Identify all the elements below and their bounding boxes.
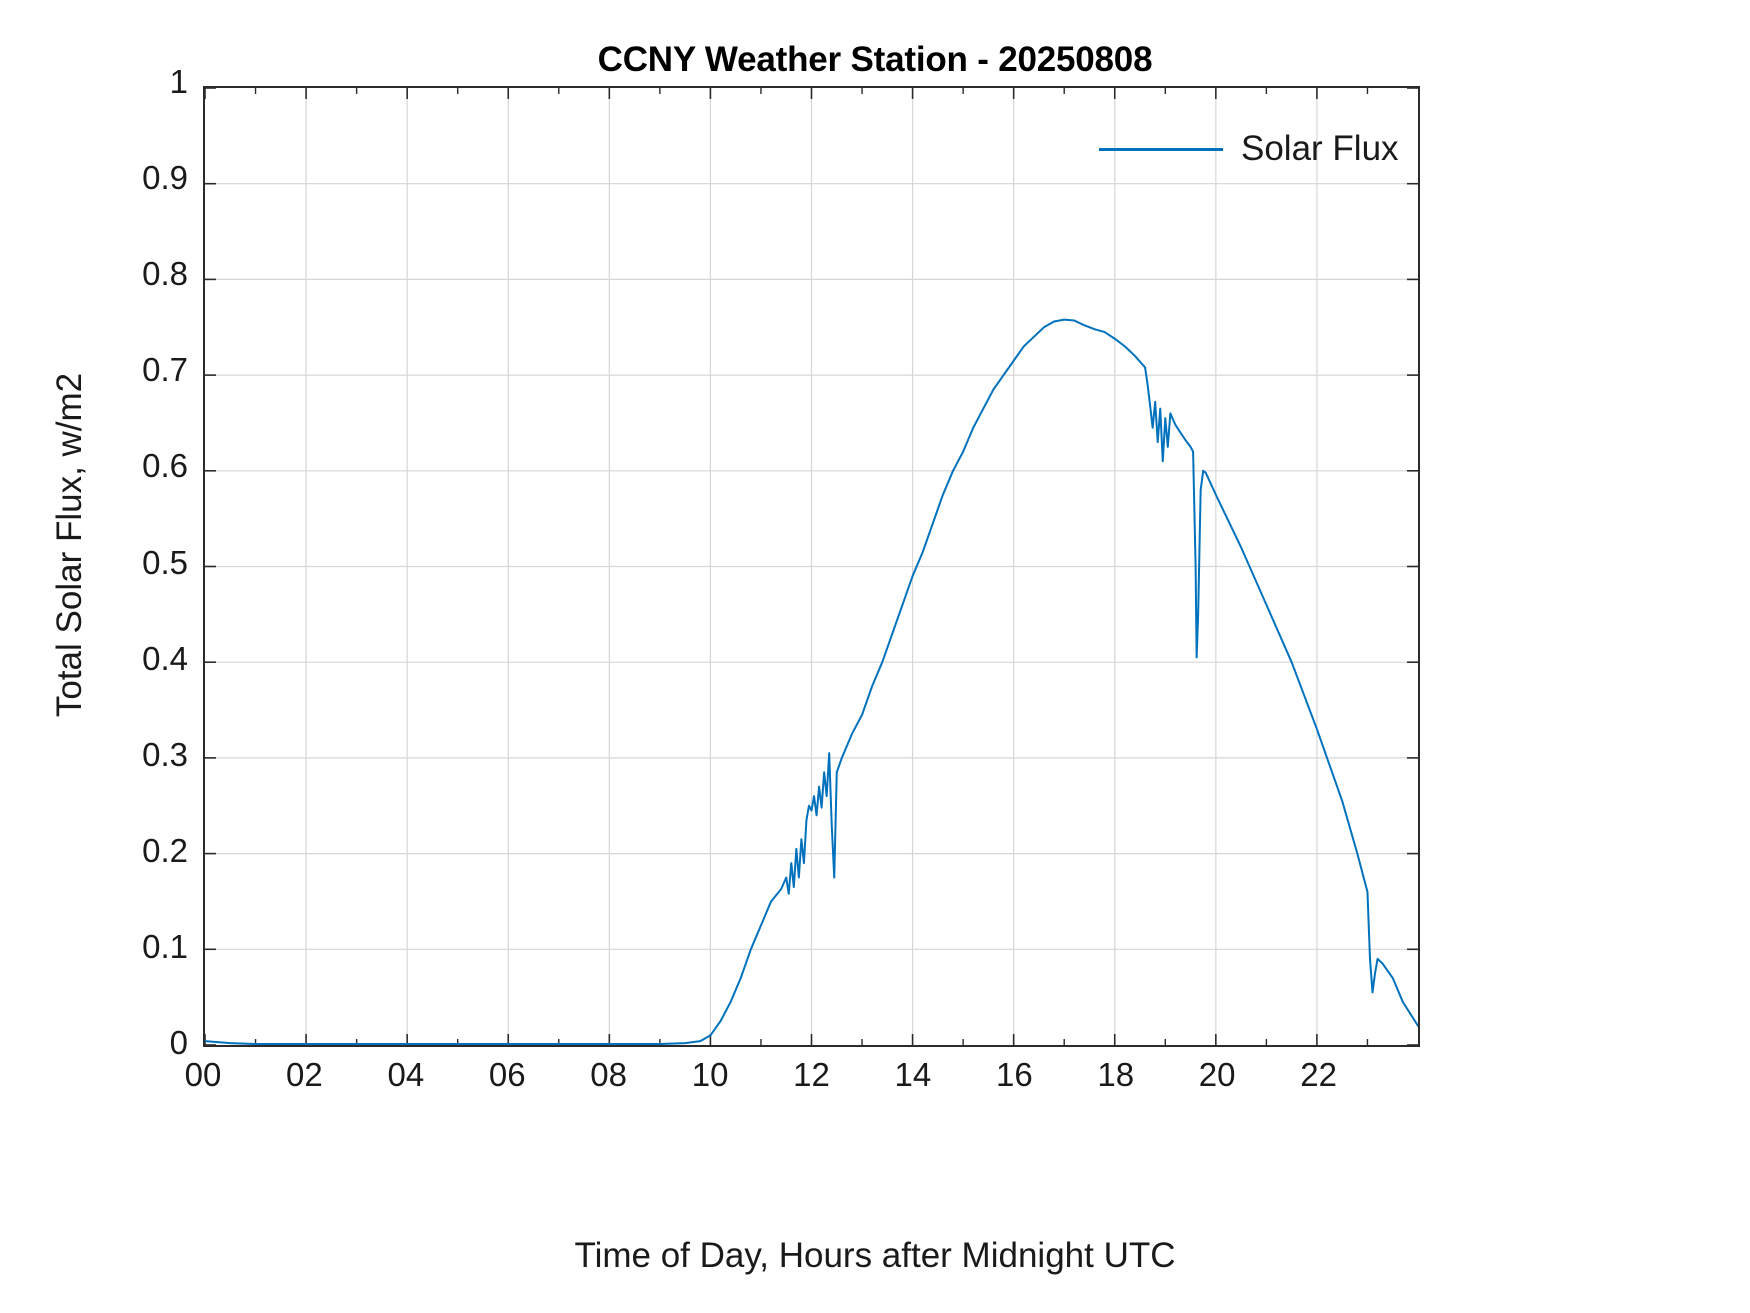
- y-tick-label: 1: [68, 65, 188, 98]
- y-tick-label: 0: [68, 1026, 188, 1059]
- plot-area: [203, 86, 1420, 1047]
- legend-line-swatch: [1099, 148, 1223, 151]
- page-title: CCNY Weather Station - 20250808: [0, 40, 1750, 80]
- figure-canvas: CCNY Weather Station - 20250808 00.10.20…: [0, 0, 1750, 1313]
- y-axis-label-wrapper: Total Solar Flux, w/m2: [50, 115, 100, 975]
- legend: Solar Flux: [1099, 118, 1399, 180]
- x-axis-label: Time of Day, Hours after Midnight UTC: [0, 1236, 1750, 1276]
- x-tick-label: 22: [1259, 1058, 1379, 1091]
- y-axis-label: Total Solar Flux, w/m2: [50, 115, 90, 975]
- data-layer: [205, 88, 1418, 1045]
- data-series-line-0: [205, 320, 1418, 1044]
- legend-label: Solar Flux: [1241, 129, 1399, 169]
